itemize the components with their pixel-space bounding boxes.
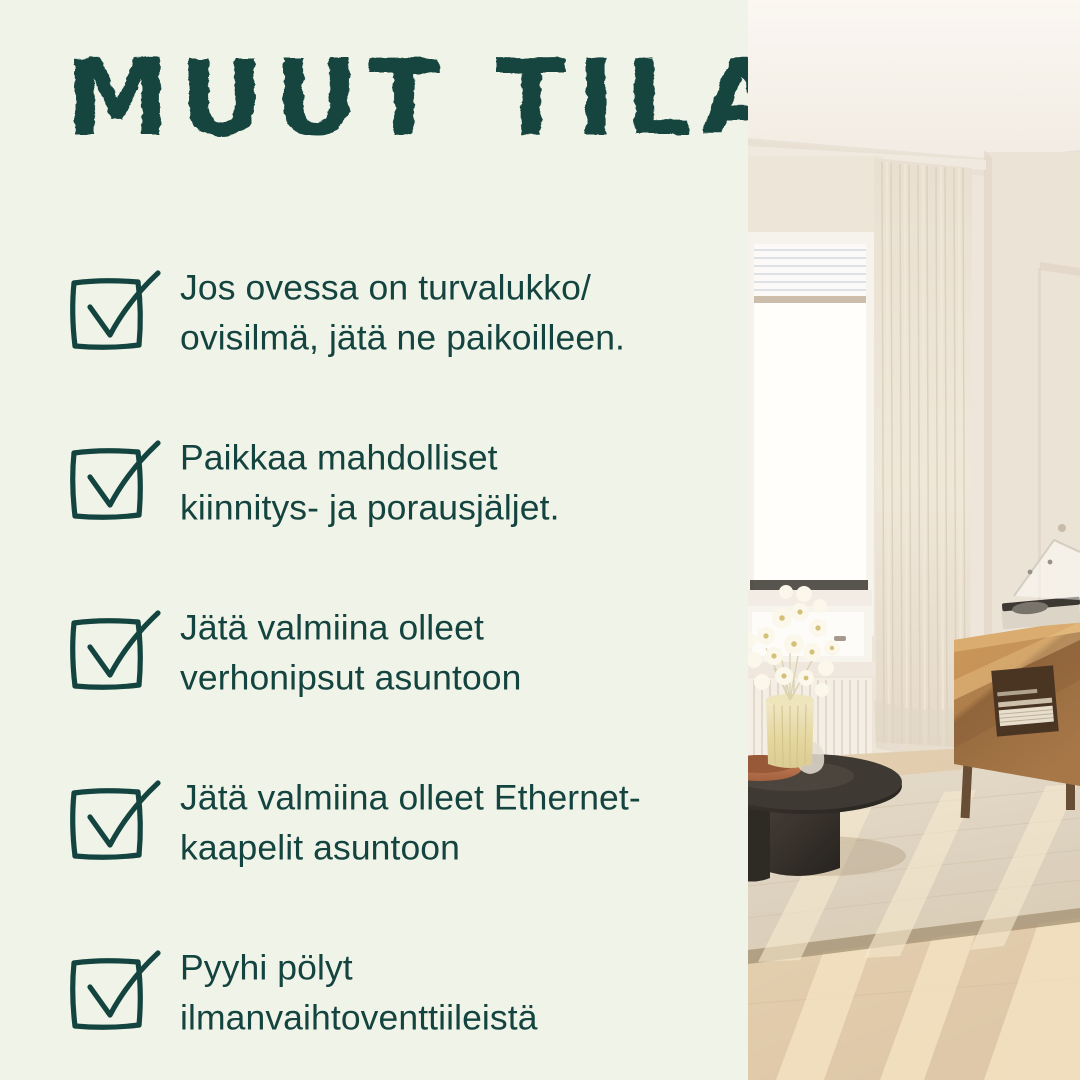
list-item-label: Paikkaa mahdolliset kiinnitys- ja poraus…: [180, 433, 740, 534]
checklist: Jos ovessa on turvalukko/ ovisilmä, jätä…: [0, 228, 748, 1078]
list-item[interactable]: Jätä valmiina olleet Ethernet- kaapelit …: [0, 738, 748, 908]
interior-photo: [748, 0, 1080, 1080]
list-item[interactable]: Pyyhi pölyt ilmanvaihtoventtiileistä: [0, 908, 748, 1078]
list-item-label: Jos ovessa on turvalukko/ ovisilmä, jätä…: [180, 263, 740, 364]
living-room-illustration: [748, 0, 1080, 1080]
list-item[interactable]: Jätä valmiina olleet verhonipsut asuntoo…: [0, 568, 748, 738]
content-panel: MUUT TILAT: [0, 0, 748, 1080]
title-brush-lettering: MUUT TILAT: [66, 38, 726, 158]
checkbox-glyph: [66, 947, 166, 1039]
infographic-canvas: MUUT TILAT: [0, 0, 1080, 1080]
page-title: MUUT TILAT: [66, 38, 726, 158]
list-item-label: Pyyhi pölyt ilmanvaihtoventtiileistä: [180, 943, 740, 1044]
checked-checkbox-icon[interactable]: [66, 267, 166, 359]
checkbox-glyph: [66, 437, 166, 529]
title-text: MUUT TILAT: [66, 37, 748, 159]
checked-checkbox-icon[interactable]: [66, 607, 166, 699]
list-item[interactable]: Paikkaa mahdolliset kiinnitys- ja poraus…: [0, 398, 748, 568]
checkbox-glyph: [66, 267, 166, 359]
checkbox-glyph: [66, 777, 166, 869]
list-item-label: Jätä valmiina olleet verhonipsut asuntoo…: [180, 603, 740, 704]
list-item[interactable]: Jos ovessa on turvalukko/ ovisilmä, jätä…: [0, 228, 748, 398]
checked-checkbox-icon[interactable]: [66, 947, 166, 1039]
checked-checkbox-icon[interactable]: [66, 777, 166, 869]
checkbox-glyph: [66, 607, 166, 699]
list-item-label: Jätä valmiina olleet Ethernet- kaapelit …: [180, 773, 740, 874]
checked-checkbox-icon[interactable]: [66, 437, 166, 529]
